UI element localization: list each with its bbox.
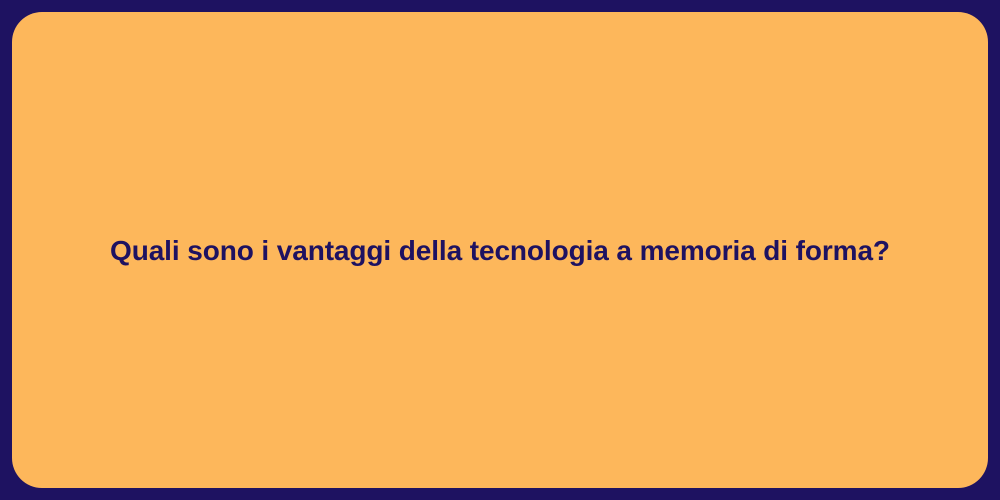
question-card-panel: Quali sono i vantaggi della tecnologia a… [12, 12, 988, 488]
question-card: Quali sono i vantaggi della tecnologia a… [0, 0, 1000, 500]
question-heading: Quali sono i vantaggi della tecnologia a… [110, 233, 890, 268]
